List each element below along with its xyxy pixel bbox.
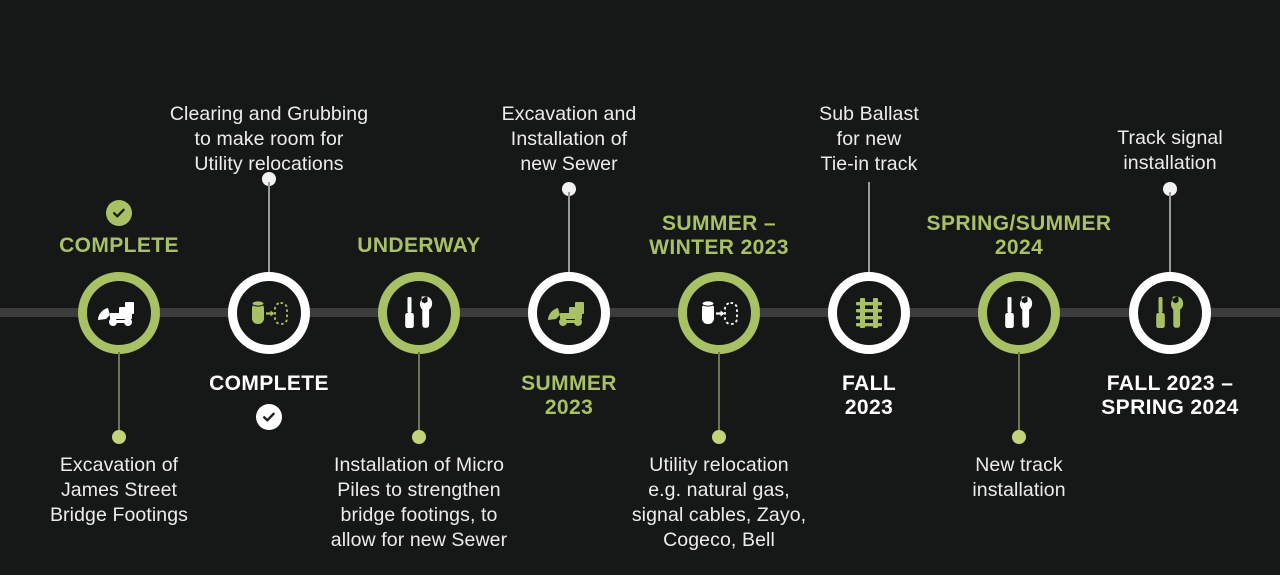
caption-line: Sub Ballast bbox=[719, 102, 1019, 127]
node-circle[interactable] bbox=[678, 272, 760, 354]
node-circle[interactable] bbox=[228, 272, 310, 354]
caption-line: installation bbox=[869, 478, 1169, 503]
node-circle[interactable] bbox=[78, 272, 160, 354]
status-label: SUMMER 2023 bbox=[419, 372, 719, 420]
timeline-node-micro-piles[interactable]: UNDERWAY Installation of Micro Piles to … bbox=[289, 0, 549, 575]
node-circle[interactable] bbox=[528, 272, 610, 354]
pipe-relocation-icon bbox=[697, 297, 741, 329]
status-label: COMPLETE bbox=[119, 372, 419, 396]
timeline-spine bbox=[0, 308, 1280, 317]
connector-dot bbox=[112, 430, 126, 444]
status-label-line: 2024 bbox=[869, 236, 1169, 260]
connector-stem bbox=[1169, 192, 1171, 274]
timeline-node-new-track-installation[interactable]: SPRING/SUMMER 2024 New track installatio… bbox=[889, 0, 1149, 575]
timeline-node-utility-relocation[interactable]: SUMMER – WINTER 2023 Utility relocation bbox=[589, 0, 849, 575]
caption-line: Utility relocation bbox=[569, 453, 869, 478]
caption-line: e.g. natural gas, bbox=[569, 478, 869, 503]
node-caption: Excavation and Installation of new Sewer bbox=[419, 102, 719, 177]
status-label-line: WINTER 2023 bbox=[569, 236, 869, 260]
tools-icon bbox=[1152, 294, 1188, 332]
node-circle[interactable] bbox=[978, 272, 1060, 354]
caption-line: for new bbox=[719, 127, 1019, 152]
caption-line: Clearing and Grubbing bbox=[119, 102, 419, 127]
timeline-node-james-street-bridge-footings[interactable]: COMPLETE Excavation of bbox=[0, 0, 249, 575]
node-caption: Clearing and Grubbing to make room for U… bbox=[119, 102, 419, 177]
status-label-line: SPRING/SUMMER bbox=[869, 212, 1169, 236]
tools-icon bbox=[1001, 294, 1037, 332]
node-circle[interactable] bbox=[1129, 272, 1211, 354]
complete-check-badge bbox=[256, 404, 282, 430]
node-caption: Track signal installation bbox=[1020, 126, 1280, 176]
caption-line: Excavation of bbox=[0, 453, 269, 478]
status-label-line: 2023 bbox=[419, 396, 719, 420]
node-caption: Utility relocation e.g. natural gas, sig… bbox=[569, 453, 869, 553]
status-label: FALL 2023 bbox=[719, 372, 1019, 420]
status-label: FALL 2023 – SPRING 2024 bbox=[1020, 372, 1280, 420]
status-label-line: 2023 bbox=[719, 396, 1019, 420]
connector-dot bbox=[1012, 430, 1026, 444]
caption-line: Bridge Footings bbox=[0, 503, 269, 528]
complete-check-badge bbox=[106, 200, 132, 226]
status-label-line: SPRING 2024 bbox=[1020, 396, 1280, 420]
connector-dot bbox=[412, 430, 426, 444]
node-caption: Installation of Micro Piles to strengthe… bbox=[269, 453, 569, 553]
caption-line: Installation of bbox=[419, 127, 719, 152]
node-caption: New track installation bbox=[869, 453, 1169, 503]
caption-line: Cogeco, Bell bbox=[569, 528, 869, 553]
caption-line: new Sewer bbox=[419, 152, 719, 177]
status-label-line: SUMMER bbox=[419, 372, 719, 396]
caption-line: New track bbox=[869, 453, 1169, 478]
status-label: SUMMER – WINTER 2023 bbox=[569, 212, 869, 260]
status-label: COMPLETE bbox=[0, 234, 269, 258]
status-label: SPRING/SUMMER 2024 bbox=[869, 212, 1169, 260]
caption-line: Excavation and bbox=[419, 102, 719, 127]
caption-line: Piles to strengthen bbox=[269, 478, 569, 503]
caption-line: installation bbox=[1020, 151, 1280, 176]
caption-line: Track signal bbox=[1020, 126, 1280, 151]
status-label: UNDERWAY bbox=[269, 234, 569, 258]
caption-line: Installation of Micro bbox=[269, 453, 569, 478]
caption-line: to make room for bbox=[119, 127, 419, 152]
tools-icon bbox=[401, 294, 437, 332]
caption-line: bridge footings, to bbox=[269, 503, 569, 528]
bulldozer-icon bbox=[547, 298, 591, 328]
node-circle[interactable] bbox=[378, 272, 460, 354]
status-label-line: SUMMER – bbox=[569, 212, 869, 236]
node-circle[interactable] bbox=[828, 272, 910, 354]
bulldozer-icon bbox=[97, 298, 141, 328]
project-timeline: COMPLETE Excavation of bbox=[0, 0, 1280, 575]
caption-line: James Street bbox=[0, 478, 269, 503]
caption-line: signal cables, Zayo, bbox=[569, 503, 869, 528]
status-label-line: FALL bbox=[719, 372, 1019, 396]
rail-track-icon bbox=[852, 296, 886, 330]
caption-line: Tie-in track bbox=[719, 152, 1019, 177]
caption-line: allow for new Sewer bbox=[269, 528, 569, 553]
node-caption: Sub Ballast for new Tie-in track bbox=[719, 102, 1019, 177]
connector-dot bbox=[712, 430, 726, 444]
node-caption: Excavation of James Street Bridge Footin… bbox=[0, 453, 269, 528]
connector-stem bbox=[268, 182, 270, 274]
status-label-line: FALL 2023 – bbox=[1020, 372, 1280, 396]
pipe-relocation-icon bbox=[247, 297, 291, 329]
